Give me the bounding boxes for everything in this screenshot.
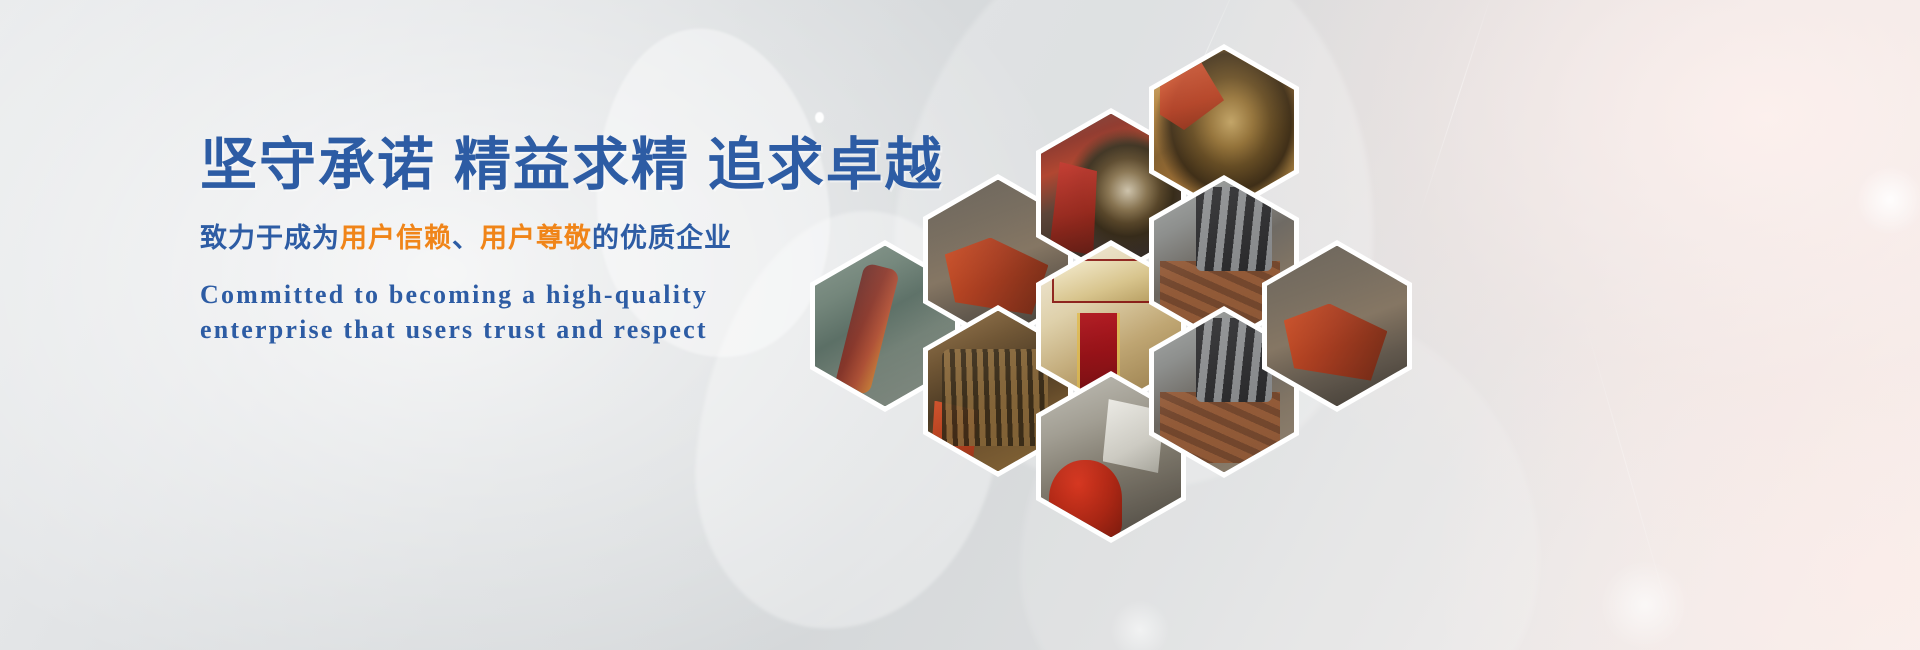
- subtitle-highlight-trust: 用户信赖: [340, 223, 452, 253]
- promotional-banner: 坚守承诺 精益求精 追求卓越 致力于成为用户信赖、用户尊敬的优质企业 Commi…: [0, 0, 1920, 650]
- subtitle-separator: 、: [452, 223, 480, 253]
- subtitle-text-before: 致力于成为: [200, 223, 340, 253]
- background-glow: [1855, 165, 1920, 235]
- background-glow: [1110, 600, 1170, 650]
- background-light-streak: [1416, 0, 1494, 224]
- background-glow: [1600, 560, 1690, 650]
- hexagon-photo-collage: [780, 44, 1420, 494]
- subtitle-text-after: 的优质企业: [592, 223, 732, 253]
- subtitle-highlight-respect: 用户尊敬: [480, 223, 592, 253]
